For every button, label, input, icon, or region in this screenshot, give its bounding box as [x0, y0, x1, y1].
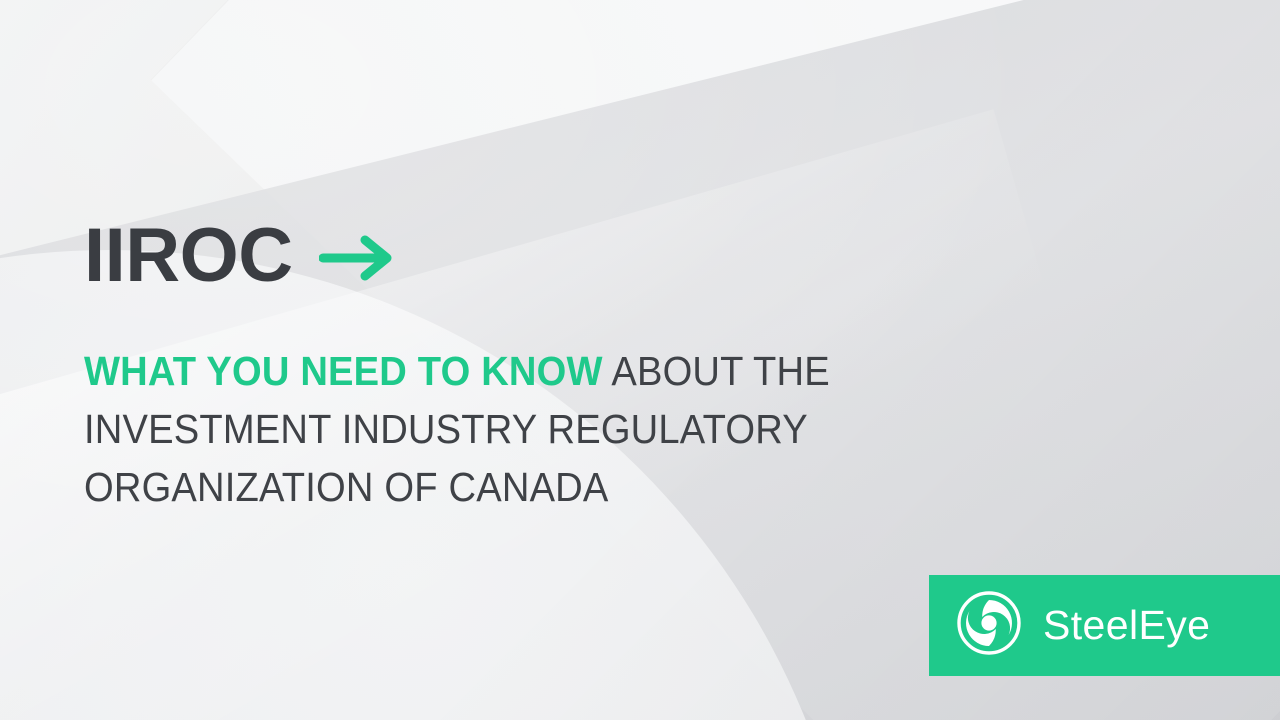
page-title: IIROC [84, 218, 293, 294]
subtitle-highlight: WHAT YOU NEED TO KNOW [84, 348, 603, 394]
slide-subtitle: WHAT YOU NEED TO KNOW ABOUT THE INVESTME… [84, 342, 865, 516]
slide-content: IIROC WHAT YOU NEED TO KNOW ABOUT THE IN… [0, 0, 1280, 720]
headline-row: IIROC [84, 218, 395, 294]
brand-name: SteelEye [1043, 605, 1210, 646]
brand-logo-badge: SteelEye [929, 575, 1280, 676]
arrow-right-icon [319, 234, 395, 287]
slide-canvas: IIROC WHAT YOU NEED TO KNOW ABOUT THE IN… [0, 0, 1280, 720]
steeleye-aperture-eye-icon [955, 589, 1023, 662]
